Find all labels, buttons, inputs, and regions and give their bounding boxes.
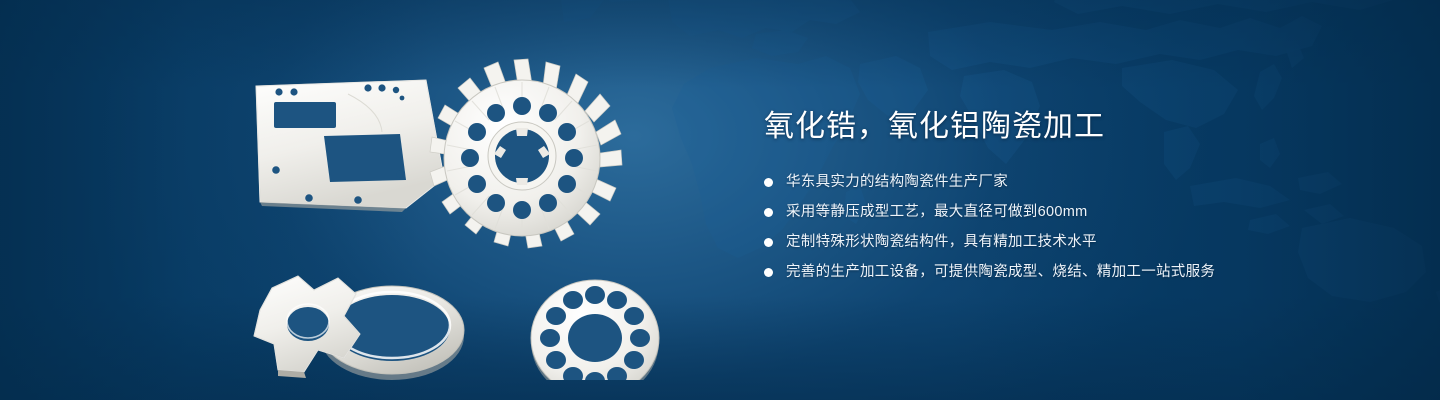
headline: 氧化锆，氧化铝陶瓷加工 — [764, 108, 1384, 146]
feature-text: 采用等静压成型工艺，最大直径可做到600mm — [786, 202, 1087, 223]
bullet-dot-icon — [764, 208, 773, 217]
list-item: 完善的生产加工设备，可提供陶瓷成型、烧结、精加工一站式服务 — [764, 262, 1384, 283]
promo-banner: 氧化锆，氧化铝陶瓷加工 华东具实力的结构陶瓷件生产厂家 采用等静压成型工艺，最大… — [0, 0, 1440, 400]
bullet-dot-icon — [764, 178, 773, 187]
list-item: 华东具实力的结构陶瓷件生产厂家 — [764, 172, 1384, 193]
feature-text: 定制特殊形状陶瓷结构件，具有精加工技术水平 — [786, 232, 1097, 253]
product-image-cluster — [230, 40, 700, 380]
ceramic-plate-shape — [256, 80, 444, 212]
copy-block: 氧化锆，氧化铝陶瓷加工 华东具实力的结构陶瓷件生产厂家 采用等静压成型工艺，最大… — [764, 108, 1384, 292]
ceramic-perforated-ring-shape — [531, 280, 659, 380]
ceramic-impeller-shape — [430, 59, 622, 248]
feature-list: 华东具实力的结构陶瓷件生产厂家 采用等静压成型工艺，最大直径可做到600mm 定… — [764, 172, 1384, 283]
list-item: 采用等静压成型工艺，最大直径可做到600mm — [764, 202, 1384, 223]
bullet-dot-icon — [764, 238, 773, 247]
feature-text: 华东具实力的结构陶瓷件生产厂家 — [786, 172, 1008, 193]
bullet-dot-icon — [764, 268, 773, 277]
feature-text: 完善的生产加工设备，可提供陶瓷成型、烧结、精加工一站式服务 — [786, 262, 1215, 283]
list-item: 定制特殊形状陶瓷结构件，具有精加工技术水平 — [764, 232, 1384, 253]
